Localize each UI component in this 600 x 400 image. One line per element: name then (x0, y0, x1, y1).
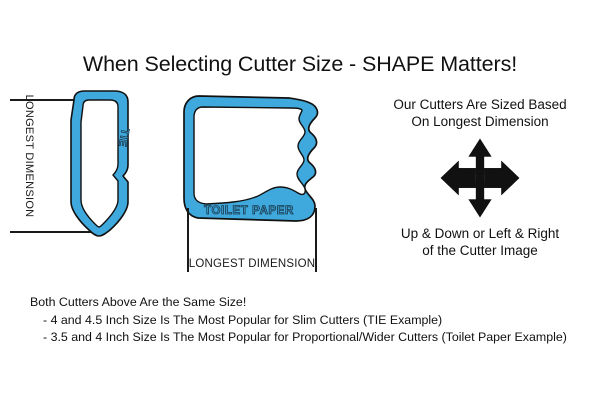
notes-bullet-1: - 4 and 4.5 Inch Size Is The Most Popula… (30, 312, 600, 330)
toilet-paper-shape-label: TOILET PAPER (204, 205, 294, 217)
sizing-info-line-3: Up & Down or Left & Right (360, 225, 600, 242)
notes-bullet-2: - 3.5 and 4 Inch Size Is The Most Popula… (30, 329, 600, 347)
toilet-paper-cutter-shape: TOILET PAPER (176, 90, 336, 245)
sizing-info-line-1: Our Cutters Are Sized Based (360, 96, 600, 113)
sizing-info-block: Our Cutters Are Sized Based On Longest D… (360, 96, 600, 259)
four-way-arrow-icon (439, 137, 521, 219)
tie-cutter-shape: TIE (52, 90, 152, 240)
infographic-canvas: When Selecting Cutter Size - SHAPE Matte… (0, 0, 600, 400)
toilet-paper-longest-dimension-label: LONGEST DIMENSION (176, 258, 328, 270)
tie-cutter-group: LONGEST DIMENSION TIE (8, 90, 168, 240)
sizing-info-line-4: of the Cutter Image (360, 242, 600, 259)
notes-block: Both Cutters Above Are the Same Size! - … (30, 294, 600, 347)
tie-longest-dimension-label: LONGEST DIMENSION (23, 91, 35, 221)
toilet-paper-cutter-group: TOILET PAPER LONGEST DIMENSION (176, 90, 351, 280)
page-title: When Selecting Cutter Size - SHAPE Matte… (0, 52, 600, 77)
sizing-info-line-2: On Longest Dimension (360, 113, 600, 130)
notes-heading: Both Cutters Above Are the Same Size! (30, 294, 600, 312)
